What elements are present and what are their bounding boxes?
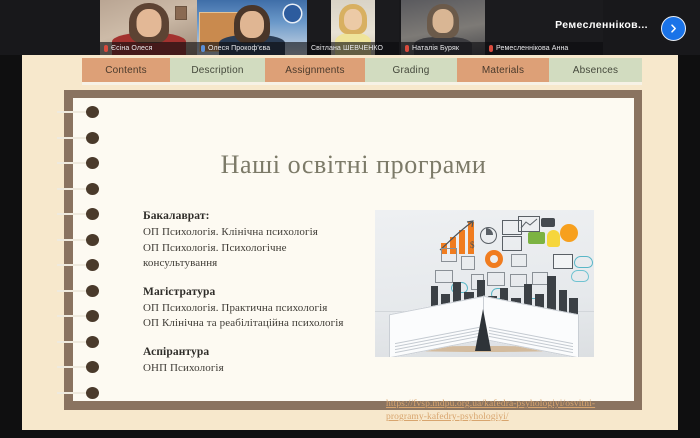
spiral-ring: [86, 387, 99, 399]
line-chart-icon: [518, 216, 540, 232]
person-face: [433, 9, 454, 33]
participant-tile[interactable]: Олеся Прокоф'єва: [197, 0, 307, 55]
active-participant-name: Ремесленніков...: [555, 19, 648, 31]
participant-name-bar: Ремесленнікова Анна: [485, 42, 603, 55]
group-heading: Аспірантура: [143, 346, 393, 358]
spiral-ring: [86, 208, 99, 220]
program-page-link[interactable]: https://fvsp.mdpu.org.ua/kafedra-psyholo…: [386, 398, 626, 424]
program-group-bachelor: Бакалаврат: ОП Психологія. Клінічна псих…: [143, 210, 393, 272]
group-line: ОП Психологія. Клінічна психологія: [143, 225, 393, 241]
participant-name: Олеся Прокоф'єва: [208, 45, 270, 52]
group-heading: Бакалаврат:: [143, 210, 393, 222]
participant-name: Єсіна Олеся: [111, 45, 153, 52]
participant-name-bar: Єсіна Олеся: [100, 42, 197, 55]
participant-name-bar: Олеся Прокоф'єва: [197, 42, 307, 55]
open-book-infographic-image: $: [375, 210, 594, 357]
spiral-ring: [86, 336, 99, 348]
spiral-ring: [86, 106, 99, 118]
slide-page-frame: Наші освітні програми Бакалаврат: ОП Пси…: [64, 90, 642, 410]
program-group-phd: Аспірантура ОНП Психологія: [143, 346, 393, 377]
tab-grading[interactable]: Grading: [365, 58, 457, 82]
chart-icon: [441, 248, 457, 262]
participant-name: Світлана ШЕВЧЕНКО: [311, 45, 383, 52]
group-line: ОП Клінічна та реабілітаційна психологія: [143, 316, 393, 332]
tablet-icon: [511, 254, 527, 267]
chevron-right-icon: [668, 23, 679, 34]
video-conference-strip: Єсіна Олеся Олеся Прокоф'єва: [0, 0, 700, 55]
mic-muted-icon: [489, 45, 493, 52]
spiral-ring: [86, 157, 99, 169]
participant-name: Ремесленнікова Анна: [496, 45, 568, 52]
grid-icon: [461, 256, 475, 270]
participant-name-bar: Світлана ШЕВЧЕНКО: [307, 42, 399, 55]
participant-name: Наталія Буряк: [412, 45, 459, 52]
tab-absences[interactable]: Absences: [549, 58, 642, 82]
tab-underline: [82, 82, 642, 85]
group-line: ОНП Психологія: [143, 361, 393, 377]
presentation-icon: [435, 270, 453, 283]
university-logo-icon: [284, 5, 301, 22]
mic-muted-icon: [104, 45, 108, 52]
person-face: [136, 9, 161, 37]
tab-materials[interactable]: Materials: [457, 58, 549, 82]
currency-icon: $: [470, 240, 479, 249]
globe-icon: [560, 224, 578, 242]
participant-tile-active-speaker[interactable]: Світлана ШЕВЧЕНКО: [307, 0, 399, 55]
participant-tile[interactable]: Єсіна Олеся: [100, 0, 197, 55]
person-face: [344, 9, 362, 30]
active-participant-label: Ремесленніков...: [555, 14, 648, 36]
tab-contents[interactable]: Contents: [82, 58, 170, 82]
group-line: консультування: [143, 256, 393, 272]
image-icon: [532, 272, 548, 285]
folder-icon: [528, 232, 545, 244]
spiral-ring: [86, 234, 99, 246]
spiral-ring: [86, 259, 99, 271]
laptop-icon: [487, 272, 505, 286]
slide-page: Наші освітні програми Бакалаврат: ОП Пси…: [73, 98, 634, 401]
camera-icon: [541, 218, 555, 227]
participant-tile[interactable]: Наталія Буряк: [401, 0, 485, 55]
tab-assignments[interactable]: Assignments: [265, 58, 365, 82]
wall-picture-decoration: [175, 6, 187, 20]
spiral-ring: [86, 285, 99, 297]
monitor-icon: [553, 254, 573, 269]
presentation-slide: Contents Description Assignments Grading…: [22, 55, 678, 430]
tab-bar: Contents Description Assignments Grading…: [82, 58, 642, 82]
next-participants-button[interactable]: [661, 16, 686, 41]
pie-chart-icon: [480, 227, 497, 244]
tab-description[interactable]: Description: [170, 58, 265, 82]
programs-text-column: Бакалаврат: ОП Психологія. Клінічна псих…: [143, 210, 393, 390]
mic-icon: [201, 45, 205, 52]
participant-name-bar: Наталія Буряк: [401, 42, 485, 55]
program-group-master: Магістратура ОП Психологія. Практична пс…: [143, 286, 393, 332]
cloud-icon: [571, 270, 589, 282]
group-line: ОП Психологія. Практична психологія: [143, 301, 393, 317]
screen-root: Єсіна Олеся Олеся Прокоф'єва: [0, 0, 700, 438]
group-heading: Магістратура: [143, 286, 393, 298]
donut-chart-icon: [485, 250, 503, 268]
slide-title: Наші освітні програми: [73, 150, 634, 180]
cloud-icon: [574, 256, 593, 268]
spiral-ring: [86, 310, 99, 322]
spiral-ring: [86, 132, 99, 144]
group-line: ОП Психологія. Психологічне: [143, 241, 393, 257]
lightbulb-icon: [547, 230, 560, 247]
person-face: [240, 11, 264, 38]
spiral-ring: [86, 183, 99, 195]
document-icon: [502, 236, 522, 251]
mic-muted-icon: [405, 45, 409, 52]
spiral-ring: [86, 361, 99, 373]
